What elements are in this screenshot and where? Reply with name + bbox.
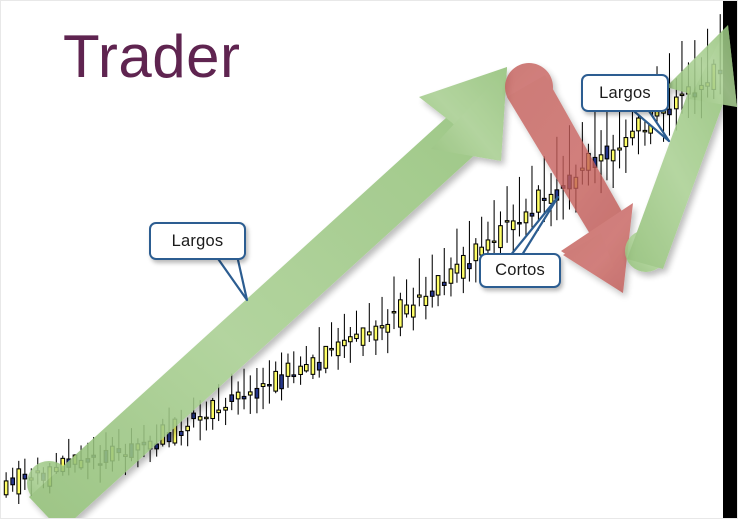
candlestick [104,432,108,469]
candlestick [687,62,691,118]
candlestick [155,424,159,456]
candlestick [492,200,496,254]
candlestick [361,328,365,356]
candlestick [511,205,515,254]
candlestick [675,78,679,130]
candlestick [374,320,378,355]
candlestick [355,311,359,342]
callout-cortos[interactable]: Cortos [479,253,561,288]
candlestick [680,41,684,114]
candlestick [442,248,446,295]
candlestick [411,288,415,331]
candlestick [142,425,146,457]
candlestick [317,327,321,377]
candlestick [505,186,509,243]
candlestick [343,314,347,358]
candlestick [286,354,290,388]
callout-label: Largos [599,84,651,103]
candlestick [192,398,196,428]
candlestick [42,467,46,488]
candlestick [268,360,272,403]
candlestick [349,327,353,363]
candlestick [198,400,202,440]
candlestick [217,384,221,421]
candlestick [624,120,628,173]
candlestick [706,29,710,98]
candlestick [693,40,697,114]
candlestick [324,346,328,373]
callout-largos-2[interactable]: Largos [581,74,669,112]
candlestick [718,14,722,94]
candlestick [367,303,371,342]
candlestick [230,374,234,411]
candlestick [130,428,134,461]
candlestick [17,461,21,504]
candlestick [542,156,546,222]
candlestick [330,322,334,356]
candlestick [549,173,553,226]
candlestick [148,436,152,462]
candlestick [36,458,40,485]
candlestick [248,375,252,414]
trader-chart-slide: Trader [0,0,738,519]
candlestick [468,221,472,282]
candlestick [236,381,240,414]
candlestick [274,362,278,394]
candlestick [386,309,390,353]
candlestick [261,368,265,409]
candlestick [305,346,309,373]
candlestick [173,417,177,445]
candlestick [599,130,603,193]
candlestick [30,468,34,496]
candlestick [518,177,522,237]
price-scale-panel [723,1,738,519]
candlestick [455,229,459,283]
candlestick [561,156,565,220]
candlestick [92,437,96,469]
candlestick [136,438,140,467]
candlestick [167,408,171,448]
callout-largos-1[interactable]: Largos [149,222,246,260]
candlestick [124,444,128,475]
candlestick [530,166,534,228]
candlestick [336,328,340,370]
candlestick [537,185,541,230]
candlestick [117,429,121,461]
candlestick [449,257,453,296]
callout-label: Largos [172,232,224,251]
callout-label: Cortos [495,261,545,280]
candlestick [587,144,591,186]
candlestick [255,368,259,413]
candlestick [574,165,578,213]
candlestick [430,255,434,308]
candlestick [224,398,228,425]
candlestick [11,468,15,492]
candlestick [399,293,403,336]
candlestick [424,277,428,319]
candlestick [380,297,384,340]
candlestick [186,418,190,447]
candlestick [179,410,183,446]
candlestick [205,402,209,431]
candlestick [161,419,165,447]
candlestick [98,445,102,483]
candlestick [462,247,466,293]
candlestick [568,125,572,209]
candlestick [649,107,653,144]
candlestick [499,211,503,256]
candlestick [61,456,65,476]
candlestick [79,445,83,469]
candlestick [611,135,615,188]
candlestick [593,110,597,183]
candlestick [111,437,115,472]
candlestick [23,459,27,490]
candlestick [292,351,296,383]
candlestick [418,258,422,306]
candlestick [405,279,409,317]
candlestick [280,353,284,401]
candlestick [700,57,704,118]
candlestick [712,59,716,99]
candlestick [524,199,528,250]
candlestick [54,453,58,474]
candlestick [474,238,478,282]
candlestick [581,122,585,185]
candlestick [392,277,396,330]
candlestick [242,369,246,410]
candlestick [299,356,303,384]
candlestick [48,463,52,493]
candlestick [73,454,77,472]
candlestick [86,443,90,479]
candlestick [311,355,315,379]
candlestick [555,137,559,220]
candlestick [436,275,440,306]
candlestick [4,472,8,498]
candlestick [67,439,71,475]
candlestick [211,398,215,430]
